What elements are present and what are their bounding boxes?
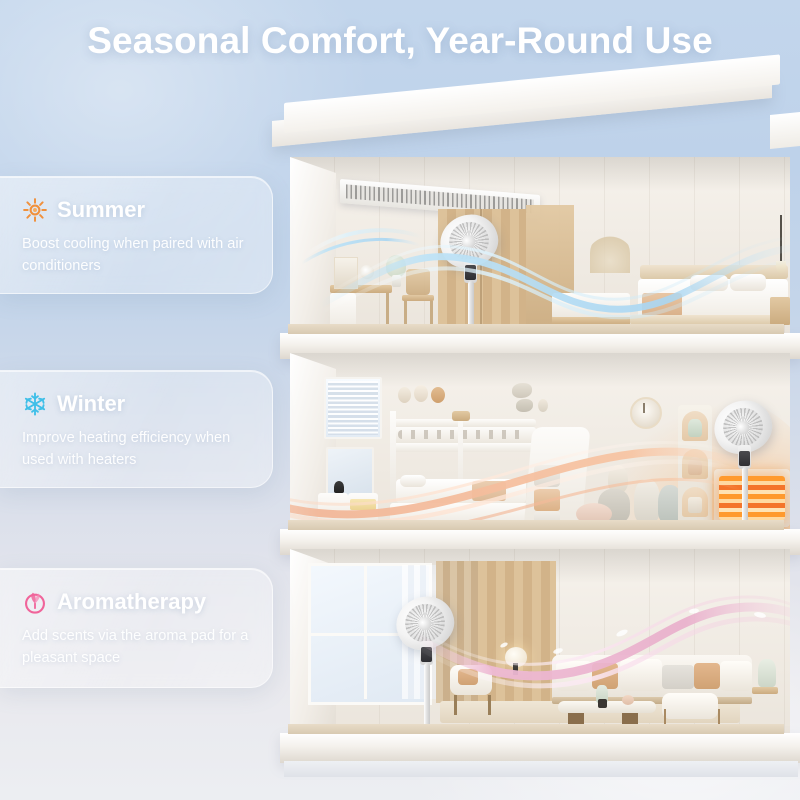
aromatherapy-title: Aromatherapy	[57, 591, 206, 613]
stair-step-2	[534, 489, 560, 511]
plant-vase	[392, 275, 401, 287]
shelf-item-2	[688, 457, 702, 475]
bed-pillow-2	[730, 274, 766, 291]
aromatherapy-description: Add scents via the aroma pad for a pleas…	[22, 625, 254, 669]
feature-card-winter[interactable]: Winter Improve heating efficiency when u…	[0, 370, 273, 488]
bed-blanket	[642, 293, 682, 317]
wall-decor-2	[414, 385, 428, 402]
aroma-diffuser-icon	[22, 589, 48, 615]
sun-icon	[22, 197, 48, 223]
room-bedroom	[290, 157, 790, 335]
snowflake-icon	[22, 391, 48, 417]
bunk-pillow	[400, 475, 426, 487]
pendant-lamp-cord	[780, 215, 782, 261]
bed-bench	[552, 293, 630, 319]
bunk-toy-basket	[452, 411, 470, 421]
dresser-drawer-yellow	[350, 499, 376, 510]
table-lamp-base	[513, 663, 518, 675]
desk-plant	[386, 255, 406, 277]
radiant-heater	[714, 469, 790, 527]
wall-decor-3	[431, 387, 445, 403]
room-kids	[290, 353, 790, 531]
fan-control-panel	[465, 265, 476, 280]
desk-picture-frame	[334, 257, 358, 289]
house-cutaway-illustration	[262, 95, 800, 760]
nightstand	[770, 297, 790, 325]
dresser-toy	[334, 481, 344, 493]
aromatherapy-card-header: Aromatherapy	[22, 589, 206, 615]
plush-duck	[634, 479, 660, 523]
clock-hand	[643, 403, 645, 413]
kids-window	[324, 377, 382, 439]
heater-glow-bars	[719, 476, 785, 520]
window-blinds	[328, 381, 378, 435]
table-vase	[598, 699, 607, 708]
wall-decor-fish-2	[516, 399, 533, 412]
wall-plant-decor	[590, 233, 630, 273]
sofa-pillow-gray	[662, 665, 694, 689]
summer-description: Boost cooling when paired with air condi…	[22, 233, 254, 277]
bed-pillow-1	[690, 275, 728, 291]
winter-description: Improve heating efficiency when used wit…	[22, 427, 254, 471]
shelf-item-3	[688, 497, 702, 513]
house-base-slab	[280, 733, 800, 763]
armchair-leg-1	[454, 695, 457, 715]
summer-title: Summer	[57, 199, 145, 221]
feature-card-aromatherapy[interactable]: Aromatherapy Add scents via the aroma pa…	[0, 568, 273, 688]
fan-control-panel	[739, 451, 750, 466]
pendant-lamp-shade	[776, 261, 786, 273]
armchair-leg-2	[488, 695, 491, 715]
bunk-guard-holes	[398, 430, 528, 439]
wall-clock	[630, 397, 662, 429]
wall-decor-4	[538, 399, 548, 412]
house-foundation	[284, 761, 798, 777]
window-mullion-v	[364, 563, 367, 699]
wall-decor-1	[398, 387, 411, 403]
winter-card-header: Winter	[22, 391, 125, 417]
sofa-back-cushion-2	[620, 659, 662, 691]
stair-step-1	[534, 465, 560, 487]
wall-decor-fish-1	[512, 383, 532, 398]
corner-plant	[758, 659, 776, 687]
fan-control-panel	[421, 647, 432, 662]
sofa-pillow-tan-2	[694, 663, 720, 689]
chair-back	[406, 269, 430, 295]
sofa-arm-right	[720, 661, 752, 691]
table-decor	[622, 695, 634, 705]
sofa-back-cushion-1	[556, 661, 592, 691]
roof-eave	[770, 111, 800, 149]
product-feature-banner: Seasonal Comfort, Year-Round Use	[0, 0, 800, 800]
page-title: Seasonal Comfort, Year-Round Use	[0, 20, 800, 62]
winter-title: Winter	[57, 393, 125, 415]
shelf-item-1	[688, 419, 702, 437]
summer-card-header: Summer	[22, 197, 145, 223]
coffee-table-top	[558, 701, 656, 713]
bunk-blanket	[472, 481, 506, 501]
armchair-pillow	[458, 669, 478, 685]
feature-card-summer[interactable]: Summer Boost cooling when paired with ai…	[0, 176, 273, 294]
side-table-right	[752, 687, 778, 694]
bunk-top-deck	[390, 443, 536, 452]
desk-decor-ball	[360, 265, 374, 279]
room-living	[290, 549, 790, 735]
